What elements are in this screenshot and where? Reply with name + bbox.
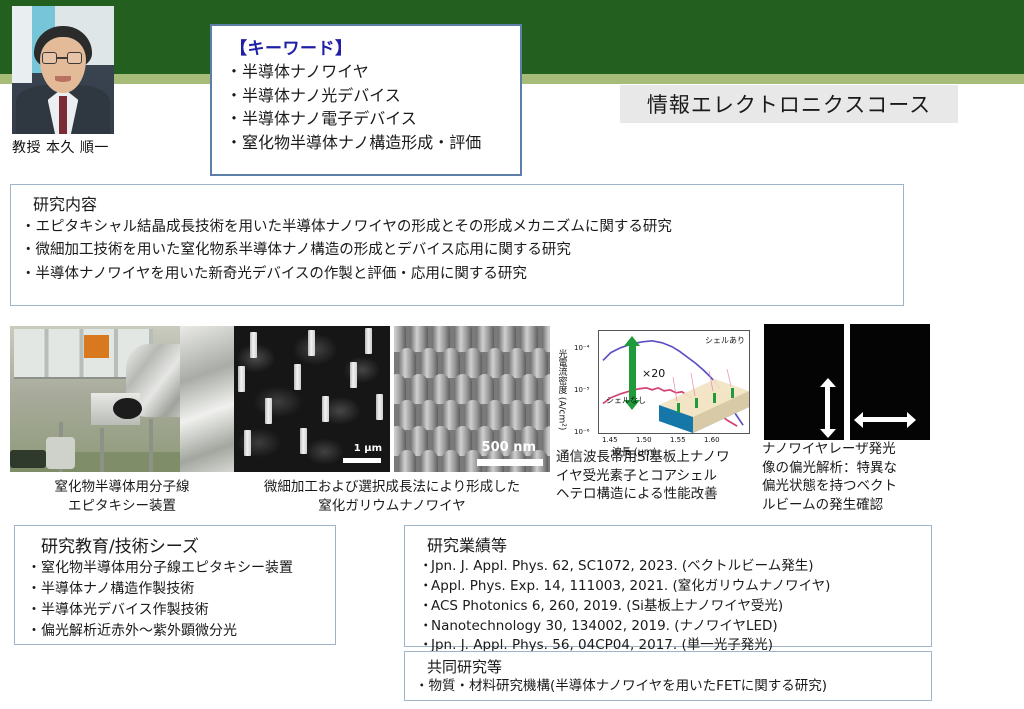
keyword-item: ・半導体ナノ電子デバイス bbox=[226, 108, 520, 131]
keyword-list: ・半導体ナノワイヤ ・半導体ナノ光デバイス ・半導体ナノ電子デバイス ・窒化物半… bbox=[212, 61, 520, 155]
figure-caption-chart: 通信波長帯用Si基板上ナノワ イヤ受光素子とコアシェル ヘテロ構造による性能改善 bbox=[556, 448, 758, 504]
sem-image-sparse: 1 μm bbox=[234, 326, 390, 472]
publication-text: ACS Photonics 6, 260, 2019. (Si基板上ナノワイヤ受… bbox=[431, 598, 783, 614]
caption-line: 窒化物半導体用分子線 bbox=[14, 478, 230, 497]
sem-image-dense: 500 nm bbox=[394, 326, 550, 472]
hot-viewport bbox=[84, 335, 109, 358]
nanowire-tip bbox=[442, 450, 460, 472]
nanowire bbox=[365, 328, 372, 354]
research-content-item: ・エピタキシャル結晶成長技術を用いた半導体ナノワイヤの形成とその形成メカニズムに… bbox=[21, 216, 903, 239]
keyword-box: 【キーワード】 ・半導体ナノワイヤ ・半導体ナノ光デバイス ・半導体ナノ電子デバ… bbox=[210, 24, 522, 176]
joint-research-box: 共同研究等 ・物質・材料研究機構(半導体ナノワイヤを用いたFETに関する研究) bbox=[404, 651, 932, 701]
chart-plot-area: ×20 シェルあり シェルなし bbox=[598, 330, 750, 434]
lab-bench-dark bbox=[10, 450, 46, 468]
nanowire bbox=[250, 332, 257, 358]
portrait-bg-left bbox=[12, 6, 32, 83]
nanowire-tip bbox=[420, 450, 438, 472]
portrait-glasses-left bbox=[42, 52, 57, 64]
caption-line: 像の偏光解析：特異な bbox=[762, 459, 934, 478]
publication-item: ・ACS Photonics 6, 260, 2019. (Si基板上ナノワイヤ… bbox=[419, 597, 931, 617]
bullet-icon: ・ bbox=[419, 577, 431, 597]
frame-leg bbox=[100, 428, 104, 472]
chart-y-tick: 10⁻⁶ bbox=[574, 428, 589, 436]
bullet-icon: ・ bbox=[419, 617, 431, 637]
sem-gan-nanowire-array: 1 μm bbox=[234, 326, 390, 472]
research-seeds-item: ・窒化物半導体用分子線エピタキシー装置 bbox=[27, 558, 335, 579]
vertical-double-arrow-icon bbox=[825, 386, 830, 430]
chart-x-tick: 1.45 bbox=[602, 436, 618, 444]
nanowire bbox=[244, 430, 251, 456]
research-content-item: ・微細加工技術を用いた窒化物系半導体ナノ構造の形成とデバイス応用に関する研究 bbox=[21, 239, 903, 262]
bullet-icon: ・ bbox=[419, 597, 431, 617]
research-content-box: 研究内容 ・エピタキシャル結晶成長技術を用いた半導体ナノワイヤの形成とその形成メ… bbox=[10, 184, 904, 306]
enhancement-arrow-icon bbox=[629, 345, 636, 401]
figure-caption-sem: 微細加工および選択成長法により形成した 窒化ガリウムナノワイヤ bbox=[234, 478, 550, 516]
chart-annotation-with-shell: シェルあり bbox=[705, 335, 745, 346]
professor-name: 教授 本久 順一 bbox=[12, 137, 152, 157]
keyword-item: ・窒化物半導体ナノ構造形成・評価 bbox=[226, 132, 520, 155]
research-content-title: 研究内容 bbox=[33, 191, 903, 215]
publication-text: Appl. Phys. Exp. 14, 111003, 2021. (窒化ガリ… bbox=[431, 578, 830, 594]
chart-x-tick: 1.55 bbox=[670, 436, 686, 444]
chart-canvas: 光電流密度 (A/cm²) 10⁻⁴ 10⁻⁵ 10⁻⁶ ×20 シェルあり シ… bbox=[556, 324, 758, 460]
caption-line: ルビームの発生確認 bbox=[762, 496, 934, 515]
nanowire bbox=[308, 330, 315, 356]
nanowire-tip bbox=[398, 450, 416, 472]
bullet-icon: ・ bbox=[419, 557, 431, 577]
research-seeds-item: ・偏光解析近赤外〜紫外顕微分光 bbox=[27, 621, 335, 642]
joint-research-item: ・物質・材料研究機構(半導体ナノワイヤを用いたFETに関する研究) bbox=[415, 677, 931, 696]
portrait-image bbox=[12, 6, 114, 134]
publication-text: Nanotechnology 30, 134002, 2019. (ナノワイヤL… bbox=[431, 618, 778, 634]
publications-title: 研究業績等 bbox=[427, 532, 931, 556]
sem-dense-nanowire-array: 500 nm bbox=[394, 326, 550, 472]
foil-wrapped-chamber-b bbox=[180, 326, 234, 472]
frame-leg bbox=[149, 419, 153, 472]
nanowire bbox=[350, 362, 357, 388]
publication-item: ・Appl. Phys. Exp. 14, 111003, 2021. (窒化ガ… bbox=[419, 577, 931, 597]
chart-annotation-without-shell: シェルなし bbox=[606, 395, 646, 406]
research-content-item: ・半導体ナノワイヤを用いた新奇光デバイスの作製と評価・応用に関する研究 bbox=[21, 263, 903, 286]
keyword-title: 【キーワード】 bbox=[230, 34, 520, 59]
publication-text: Jpn. J. Appl. Phys. 62, SC1072, 2023. (ベ… bbox=[431, 558, 814, 574]
research-seeds-item: ・半導体ナノ構造作製技術 bbox=[27, 579, 335, 600]
publication-item: ・Jpn. J. Appl. Phys. 62, SC1072, 2023. (… bbox=[419, 557, 931, 577]
research-seeds-title: 研究教育/技術シーズ bbox=[41, 532, 335, 557]
joint-research-list: ・物質・材料研究機構(半導体ナノワイヤを用いたFETに関する研究) bbox=[405, 677, 931, 696]
photocurrent-spectrum-chart: 光電流密度 (A/cm²) 10⁻⁴ 10⁻⁵ 10⁻⁶ ×20 シェルあり シ… bbox=[556, 324, 758, 460]
professor-portrait bbox=[12, 6, 114, 134]
polarization-analysis-images bbox=[762, 324, 932, 440]
mbe-equipment-photo bbox=[10, 326, 234, 472]
research-seeds-item: ・半導体光デバイス作製技術 bbox=[27, 600, 335, 621]
research-content-list: ・エピタキシャル結晶成長技術を用いた半導体ナノワイヤの形成とその形成メカニズムに… bbox=[11, 216, 903, 286]
nanowire bbox=[238, 366, 245, 392]
chart-x-tick: 1.50 bbox=[636, 436, 652, 444]
nanowire bbox=[322, 396, 329, 422]
caption-line: 通信波長帯用Si基板上ナノワ bbox=[556, 448, 758, 467]
horizontal-double-arrow-icon bbox=[862, 417, 908, 422]
research-seeds-box: 研究教育/技術シーズ ・窒化物半導体用分子線エピタキシー装置 ・半導体ナノ構造作… bbox=[14, 525, 336, 645]
chart-y-tick: 10⁻⁴ bbox=[574, 344, 589, 352]
figure-caption-mbe: 窒化物半導体用分子線 エピタキシー装置 bbox=[14, 478, 230, 516]
mbe-photo-image bbox=[10, 326, 234, 472]
keyword-item: ・半導体ナノ光デバイス bbox=[226, 85, 520, 108]
caption-line: エピタキシー装置 bbox=[14, 497, 230, 516]
polarization-image-horizontal bbox=[850, 324, 930, 440]
portrait-tie bbox=[59, 96, 67, 134]
caption-line: 窒化ガリウムナノワイヤ bbox=[234, 497, 550, 516]
portrait-glasses-right bbox=[67, 52, 82, 64]
caption-line: イヤ受光素子とコアシェル bbox=[556, 467, 758, 486]
chart-y-axis-label: 光電流密度 (A/cm²) bbox=[554, 334, 570, 446]
joint-research-title: 共同研究等 bbox=[427, 656, 931, 677]
research-seeds-list: ・窒化物半導体用分子線エピタキシー装置 ・半導体ナノ構造作製技術 ・半導体光デバ… bbox=[15, 558, 335, 642]
publication-item: ・Nanotechnology 30, 134002, 2019. (ナノワイヤ… bbox=[419, 617, 931, 637]
caption-line: 偏光状態を持つベクト bbox=[762, 477, 934, 496]
chart-x-tick: 1.60 bbox=[704, 436, 720, 444]
publications-box: 研究業績等 ・Jpn. J. Appl. Phys. 62, SC1072, 2… bbox=[404, 525, 932, 647]
figure-caption-polarization: ナノワイヤレーザ発光 像の偏光解析：特異な 偏光状態を持つベクト ルビームの発生… bbox=[762, 440, 934, 515]
device-schematic-icon bbox=[653, 369, 750, 434]
nanowire bbox=[300, 428, 307, 454]
scale-bar bbox=[477, 459, 543, 466]
chart-y-tick: 10⁻⁵ bbox=[574, 386, 589, 394]
scale-bar-label: 1 μm bbox=[354, 443, 382, 454]
scale-bar bbox=[343, 458, 381, 463]
nanowire bbox=[265, 398, 272, 424]
publications-list: ・Jpn. J. Appl. Phys. 62, SC1072, 2023. (… bbox=[405, 557, 931, 656]
nanowire bbox=[376, 394, 383, 420]
caption-line: ヘテロ構造による性能改善 bbox=[556, 485, 758, 504]
gas-cylinder bbox=[46, 437, 75, 469]
course-label: 情報エレクトロニクスコース bbox=[620, 85, 958, 123]
caption-line: 微細加工および選択成長法により形成した bbox=[234, 478, 550, 497]
scale-bar-label: 500 nm bbox=[482, 440, 536, 455]
portrait-glasses-bridge bbox=[57, 57, 67, 59]
caption-line: ナノワイヤレーザ発光 bbox=[762, 440, 934, 459]
portrait-mouth bbox=[55, 76, 71, 81]
polarization-image-vertical bbox=[764, 324, 844, 440]
keyword-item: ・半導体ナノワイヤ bbox=[226, 61, 520, 84]
nanowire bbox=[294, 364, 301, 390]
